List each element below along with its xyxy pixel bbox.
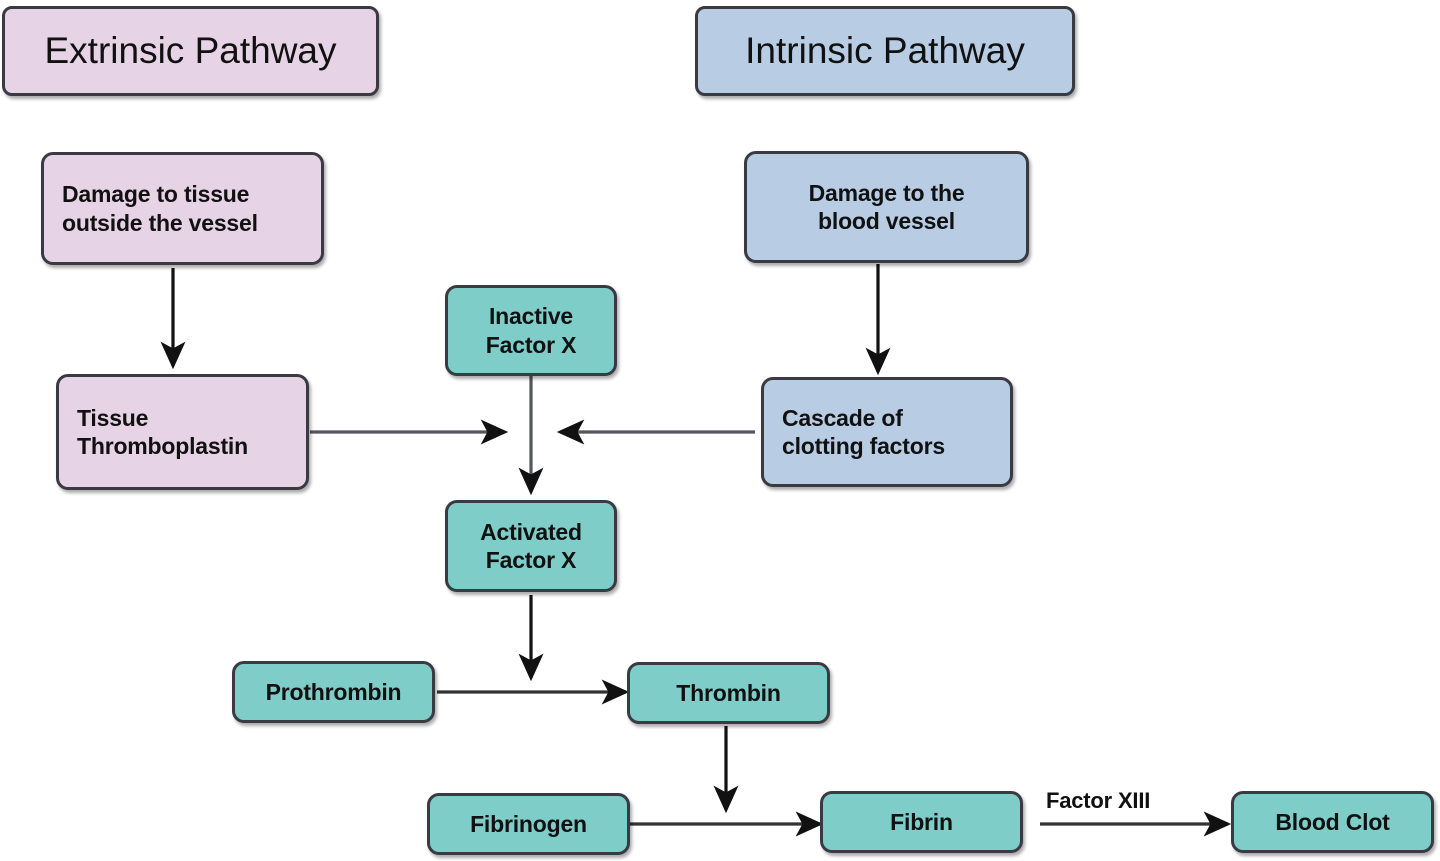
node-inactive-factor-x: Inactive Factor X	[445, 285, 617, 376]
node-damage-to-blood-vessel-label: Damage to the blood vessel	[809, 179, 965, 235]
node-fibrin-label: Fibrin	[890, 808, 953, 836]
node-cascade-of-clotting-factors-label: Cascade of clotting factors	[782, 404, 945, 460]
factor-xiii-label: Factor XIII	[1046, 788, 1150, 814]
node-damage-to-blood-vessel: Damage to the blood vessel	[744, 151, 1029, 263]
node-cascade-of-clotting-factors: Cascade of clotting factors	[761, 377, 1013, 487]
node-blood-clot-label: Blood Clot	[1275, 808, 1389, 836]
node-thrombin: Thrombin	[627, 662, 830, 724]
node-tissue-thromboplastin-label: Tissue Thromboplastin	[77, 404, 248, 460]
node-tissue-thromboplastin: Tissue Thromboplastin	[56, 374, 309, 490]
coagulation-cascade-diagram: Extrinsic Pathway Intrinsic Pathway Dama…	[0, 0, 1440, 861]
node-blood-clot: Blood Clot	[1231, 791, 1434, 853]
intrinsic-pathway-header-label: Intrinsic Pathway	[745, 28, 1025, 73]
extrinsic-pathway-header-label: Extrinsic Pathway	[45, 28, 337, 73]
node-prothrombin-label: Prothrombin	[266, 678, 402, 706]
node-fibrinogen: Fibrinogen	[427, 793, 630, 855]
node-activated-factor-x: Activated Factor X	[445, 500, 617, 592]
node-prothrombin: Prothrombin	[232, 661, 435, 723]
node-fibrin: Fibrin	[820, 791, 1023, 853]
node-thrombin-label: Thrombin	[676, 679, 780, 707]
node-damage-to-tissue-label: Damage to tissue outside the vessel	[62, 180, 258, 236]
factor-xiii-label-text: Factor XIII	[1046, 788, 1150, 813]
node-fibrinogen-label: Fibrinogen	[470, 810, 587, 838]
node-inactive-factor-x-label: Inactive Factor X	[486, 302, 576, 358]
node-activated-factor-x-label: Activated Factor X	[480, 518, 582, 574]
intrinsic-pathway-header: Intrinsic Pathway	[695, 6, 1075, 96]
extrinsic-pathway-header: Extrinsic Pathway	[2, 6, 379, 96]
node-damage-to-tissue: Damage to tissue outside the vessel	[41, 152, 324, 265]
